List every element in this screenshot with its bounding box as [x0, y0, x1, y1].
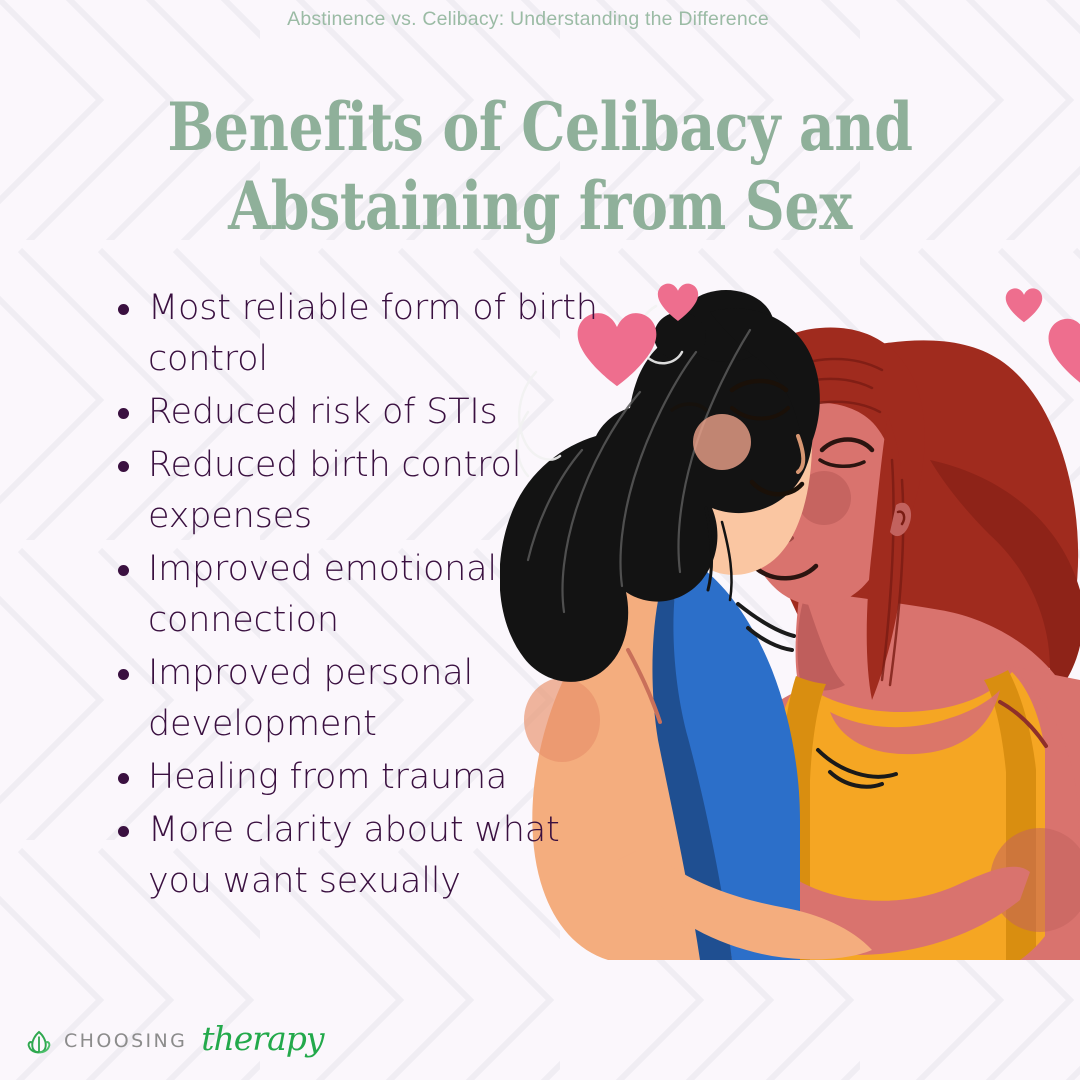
- list-item-label: Reduced risk of STIs: [148, 392, 498, 432]
- heart-edge-right-icon: [1047, 318, 1080, 388]
- bullet-dot-icon: [118, 826, 129, 837]
- page-title-line-1: Benefits of Celibacy and: [137, 88, 943, 167]
- list-item-label: Most reliable form of birth control: [148, 288, 598, 379]
- bullet-dot-icon: [118, 304, 129, 315]
- blush: [693, 414, 751, 470]
- bullet-dot-icon: [118, 669, 129, 680]
- list-item: More clarity about what you want sexuall…: [104, 805, 604, 907]
- header-title-text: Abstinence vs. Celibacy: Understanding t…: [287, 8, 769, 30]
- list-item-label: Reduced birth control expenses: [148, 445, 521, 536]
- list-item: Healing from trauma: [104, 752, 604, 803]
- list-item-label: Improved emotional connection: [148, 549, 497, 640]
- page-header: Abstinence vs. Celibacy: Understanding t…: [0, 8, 1080, 31]
- bullet-dot-icon: [118, 408, 129, 419]
- benefits-list: Most reliable form of birth control Redu…: [104, 283, 604, 909]
- list-item: Most reliable form of birth control: [104, 283, 604, 385]
- logo-therapy-text: therapy: [201, 1019, 323, 1058]
- list-item: Reduced risk of STIs: [104, 387, 604, 438]
- bullet-dot-icon: [118, 565, 129, 576]
- bullet-dot-icon: [118, 773, 129, 784]
- heart-small-left-icon: [657, 283, 699, 322]
- bullet-dot-icon: [118, 461, 129, 472]
- list-item-label: Improved personal development: [148, 653, 473, 744]
- list-item: Improved emotional connection: [104, 544, 604, 646]
- choosing-therapy-logo[interactable]: CHOOSING therapy: [24, 1023, 324, 1058]
- logo-choosing-text: CHOOSING: [64, 1030, 187, 1052]
- lotus-icon: [24, 1026, 54, 1056]
- page-title-line-2: Abstaining from Sex: [137, 167, 943, 246]
- list-item-label: Healing from trauma: [148, 757, 507, 797]
- list-item: Reduced birth control expenses: [104, 440, 604, 542]
- list-item: Improved personal development: [104, 648, 604, 750]
- heart-small-right-icon: [1005, 288, 1043, 323]
- list-item-label: More clarity about what you want sexuall…: [148, 810, 559, 901]
- page-title: Benefits of Celibacy and Abstaining from…: [60, 88, 1020, 246]
